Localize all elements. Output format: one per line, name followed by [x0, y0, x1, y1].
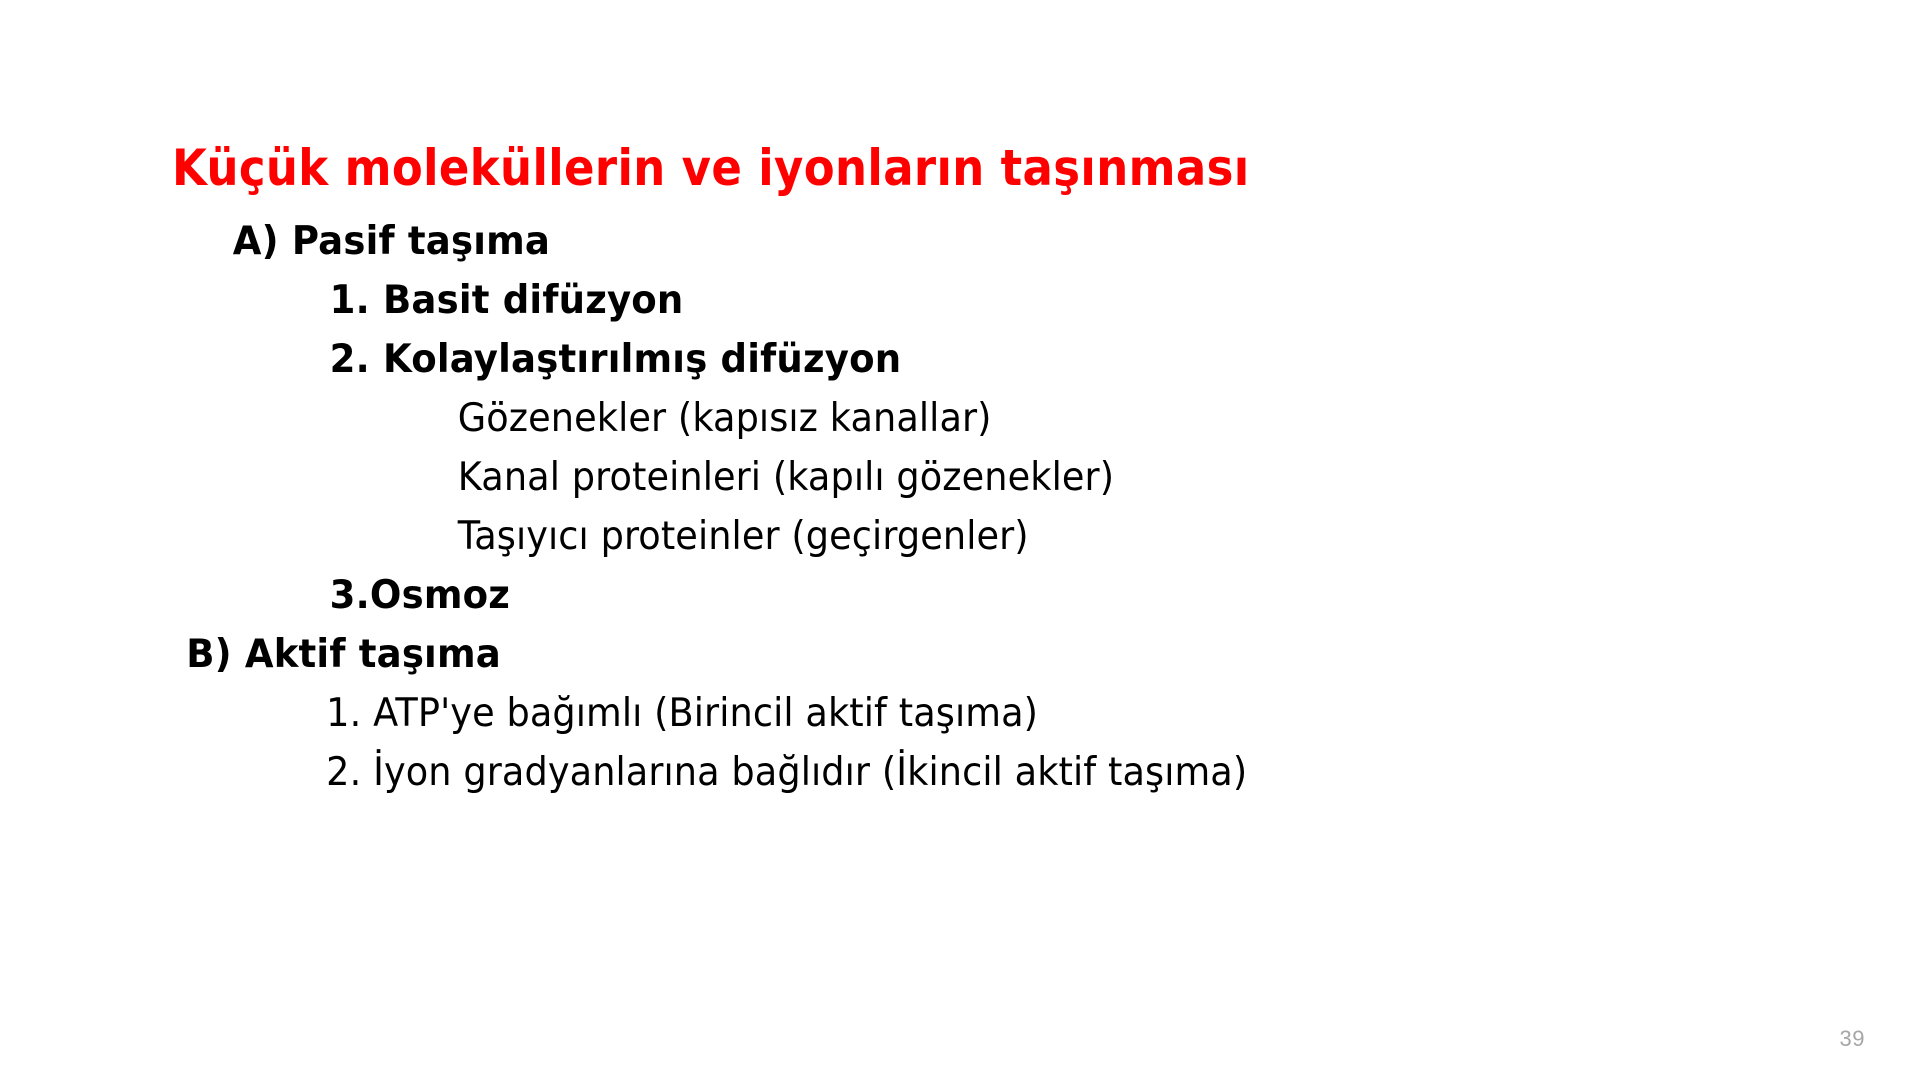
outline-row-item-a2-sub1: Gözenekler (kapısız kanallar) — [0, 389, 1805, 448]
outline-row-item-a2: 2. Kolaylaştırılmış difüzyon — [0, 330, 1824, 389]
outline-row-item-a3: 3.Osmoz — [0, 566, 1824, 625]
outline-row-section-b: B) Aktif taşıma — [0, 625, 1824, 684]
outline-row-item-b1: 1. ATP'ye bağımlı (Birincil aktif taşıma… — [0, 684, 1805, 743]
outline-row-item-a2-sub3: Taşıyıcı proteinler (geçirgenler) — [0, 507, 1805, 566]
slide-canvas: Küçük moleküllerin ve iyonların taşınmas… — [0, 0, 1920, 1080]
outline-row-item-b2: 2. İyon gradyanlarına bağlıdır (İkincil … — [0, 743, 1805, 802]
outline-row-item-a2-sub2: Kanal proteinleri (kapılı gözenekler) — [0, 448, 1805, 507]
outline-list: A) Pasif taşıma1. Basit difüzyon2. Kolay… — [0, 212, 1920, 802]
slide-title: Küçük moleküllerin ve iyonların taşınmas… — [172, 142, 1250, 194]
page-number: 39 — [1840, 1026, 1865, 1052]
outline-row-section-a: A) Pasif taşıma — [0, 212, 1824, 271]
outline-row-item-a1: 1. Basit difüzyon — [0, 271, 1824, 330]
